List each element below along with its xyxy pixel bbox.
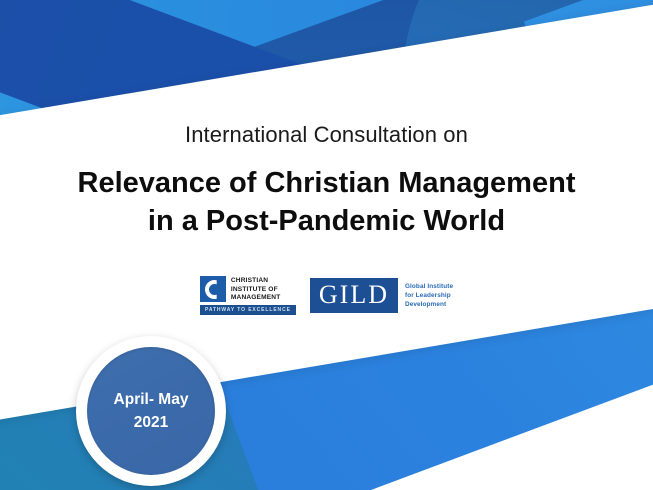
gild-logo-subtext: Global Institute for Leadership Developm… (405, 282, 453, 310)
date-badge-inner: April- May 2021 (87, 347, 215, 475)
cim-word-line-3: MANAGEMENT (231, 294, 281, 303)
gild-word-line-3: Development (405, 300, 453, 309)
cim-logo-top-row: CHRISTIAN INSTITUTE OF MANAGEMENT (200, 276, 296, 303)
slide-title-line-1: Relevance of Christian Management (0, 164, 653, 202)
cim-logo: CHRISTIAN INSTITUTE OF MANAGEMENT PATHWA… (200, 276, 296, 315)
cim-logo-tagline: PATHWAY TO EXCELLENCE (200, 305, 296, 315)
cim-word-line-2: INSTITUTE OF (231, 286, 281, 295)
presentation-title-slide: International Consultation on Relevance … (0, 0, 653, 490)
gild-logo-box: GILD (310, 278, 398, 313)
c-swoosh-icon (200, 276, 226, 302)
slide-title: Relevance of Christian Management in a P… (0, 164, 653, 241)
date-badge-line-2: 2021 (134, 411, 168, 434)
gild-logo-wordmark: GILD (319, 282, 389, 308)
date-badge-line-1: April- May (114, 388, 189, 411)
slide-subtitle: International Consultation on (0, 122, 653, 148)
gild-word-line-2: for Leadership (405, 291, 453, 300)
gild-logo: GILD Global Institute for Leadership Dev… (310, 278, 453, 313)
gild-word-line-1: Global Institute (405, 282, 453, 291)
cim-logo-wordmark: CHRISTIAN INSTITUTE OF MANAGEMENT (231, 276, 281, 303)
slide-content: International Consultation on Relevance … (0, 0, 653, 490)
cim-word-line-1: CHRISTIAN (231, 277, 281, 286)
date-badge: April- May 2021 (76, 336, 226, 486)
logo-strip: CHRISTIAN INSTITUTE OF MANAGEMENT PATHWA… (0, 276, 653, 315)
slide-title-line-2: in a Post-Pandemic World (0, 202, 653, 240)
